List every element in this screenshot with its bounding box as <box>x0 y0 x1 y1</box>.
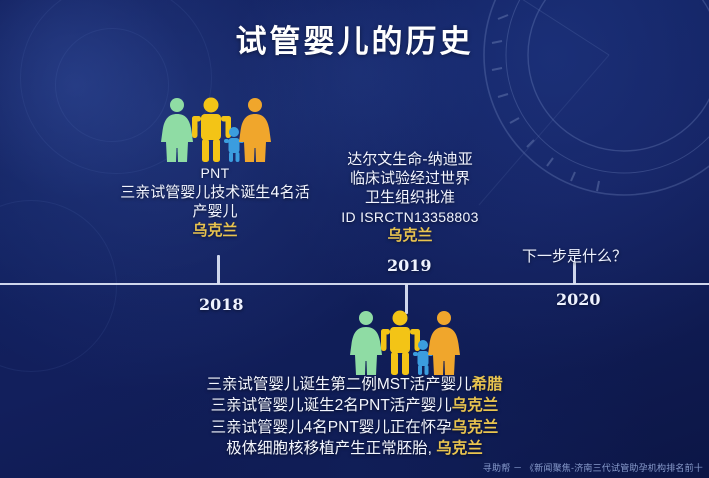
bottom-row-3-text: 极体细胞核移植产生正常胚胎, <box>226 440 432 457</box>
female-figure-orange <box>239 98 271 162</box>
watermark: 寻助帮 － 《新闻聚焦-济南三代试管助孕机构排名前十 <box>483 461 703 474</box>
block-2019-line-2: 卫生组织批准 <box>305 188 515 207</box>
block-2019-lower: 三亲试管婴儿诞生第二例MST活产婴儿希腊 三亲试管婴儿诞生2名PNT活产婴儿乌克… <box>0 374 709 460</box>
bottom-row-3: 极体细胞核移植产生正常胚胎, 乌克兰 <box>0 438 709 459</box>
next-step-question: 下一步是什么？ <box>522 245 627 266</box>
slide-canvas: 试管婴儿的历史 2018 2019 2020 <box>0 0 709 478</box>
family-group-icon-top <box>158 97 276 162</box>
timeline-year-2020: 2020 <box>556 290 601 309</box>
bottom-row-2: 三亲试管婴儿4名PNT婴儿正在怀孕乌克兰 <box>0 417 709 438</box>
female-figure-green <box>350 311 382 375</box>
bottom-row-2-highlight: 乌克兰 <box>452 419 499 436</box>
bottom-row-0-highlight: 希腊 <box>472 376 503 393</box>
female-figure-orange <box>428 311 460 375</box>
family-group-icon-bottom <box>347 310 465 375</box>
bottom-row-3-highlight: 乌克兰 <box>436 440 483 457</box>
bottom-row-2-text: 三亲试管婴儿4名PNT婴儿正在怀孕 <box>211 419 452 436</box>
page-title: 试管婴儿的历史 <box>0 16 709 61</box>
block-2019-trial-id: ID ISRCTN13358803 <box>305 209 515 227</box>
block-2019-line-1: 临床试验经过世界 <box>305 169 515 188</box>
block-2019-highlight: 乌克兰 <box>305 226 515 245</box>
block-2019-line-0: 达尔文生命-纳迪亚 <box>305 150 515 169</box>
timeline-year-2018: 2018 <box>199 295 244 314</box>
timeline-year-2019: 2019 <box>387 256 432 275</box>
female-figure-green <box>161 98 193 162</box>
timeline-tick-2018 <box>217 255 220 284</box>
timeline-axis <box>0 283 709 285</box>
bottom-row-1: 三亲试管婴儿诞生2名PNT活产婴儿乌克兰 <box>0 395 709 416</box>
male-figure-yellow <box>192 98 231 163</box>
bottom-row-1-highlight: 乌克兰 <box>452 397 499 414</box>
bottom-row-0-text: 三亲试管婴儿诞生第二例MST活产婴儿 <box>206 376 471 393</box>
male-figure-yellow <box>381 311 420 376</box>
bottom-row-1-text: 三亲试管婴儿诞生2名PNT活产婴儿 <box>211 397 452 414</box>
block-2019-upper: 达尔文生命-纳迪亚 临床试验经过世界 卫生组织批准 ID ISRCTN13358… <box>305 150 515 246</box>
bottom-row-0: 三亲试管婴儿诞生第二例MST活产婴儿希腊 <box>0 374 709 395</box>
